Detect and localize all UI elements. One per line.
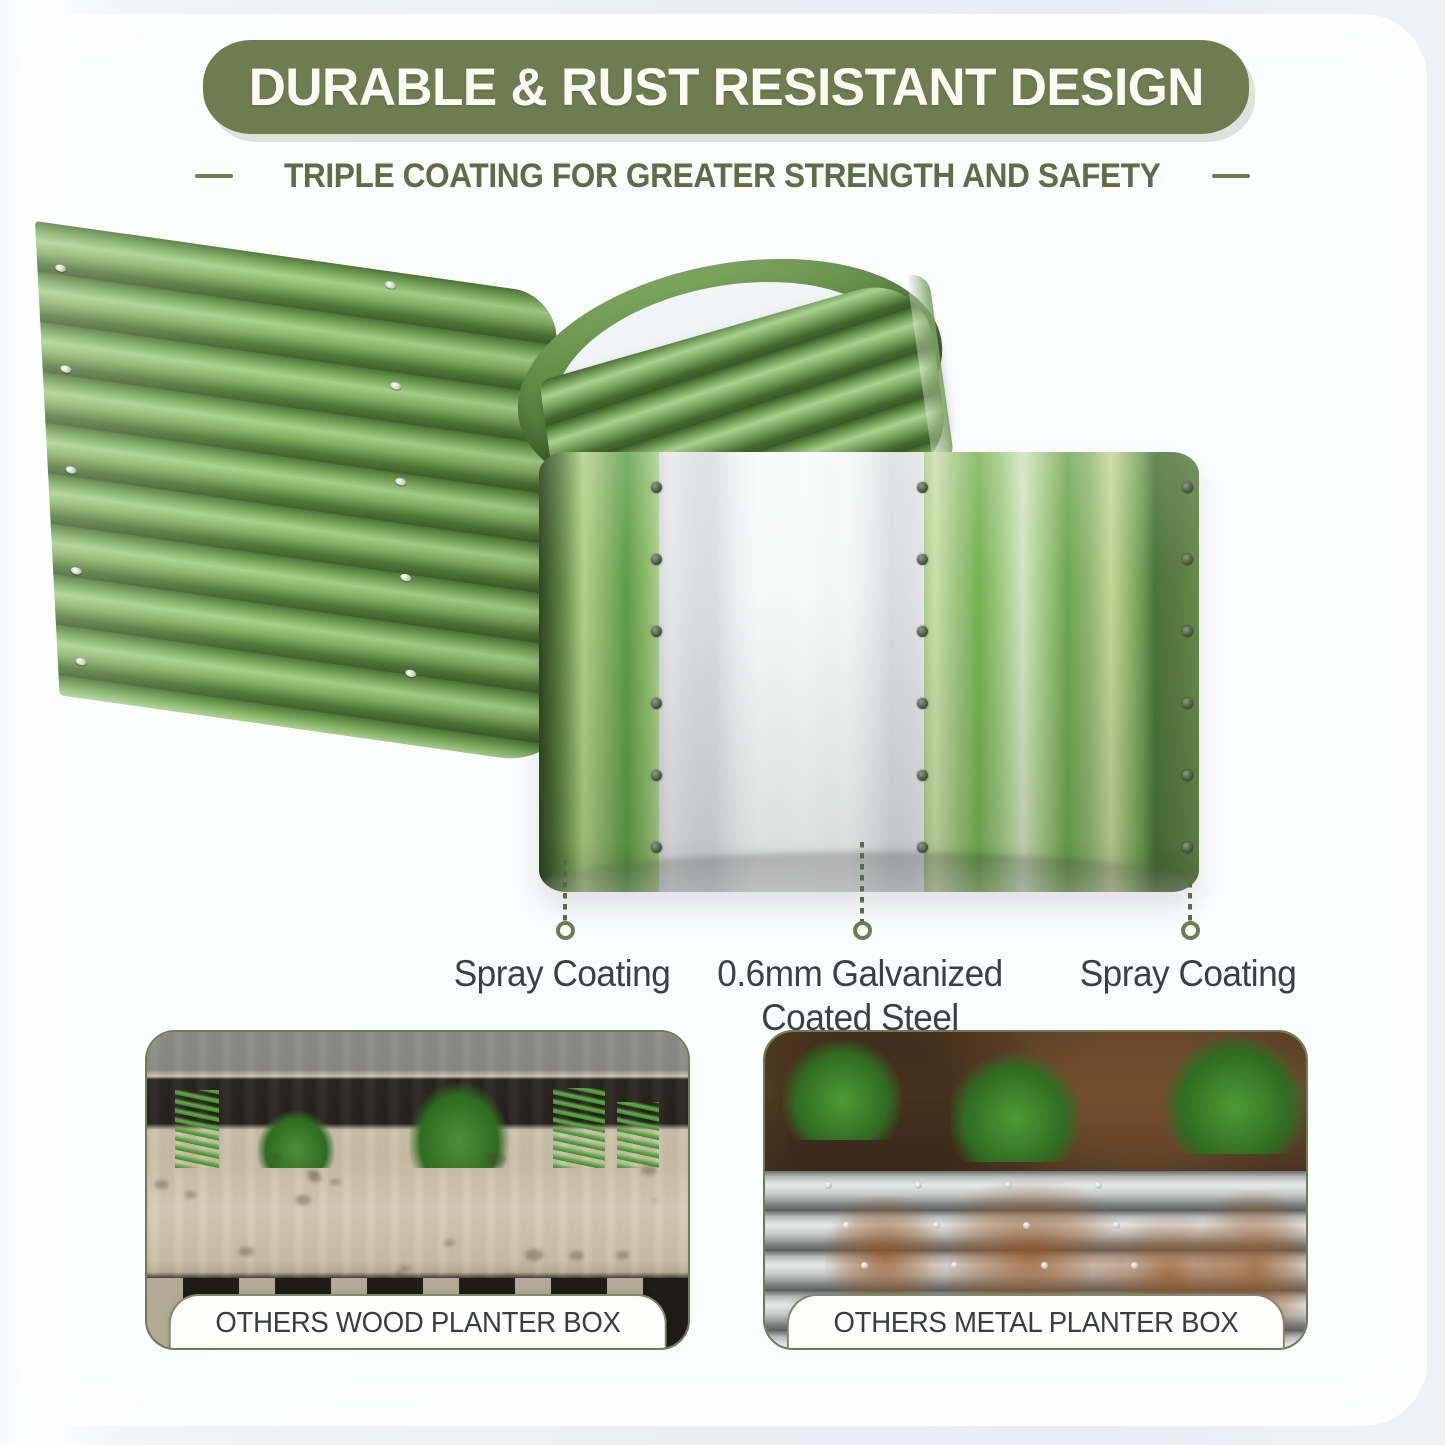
header-banner: DURABLE & RUST RESISTANT DESIGN bbox=[203, 40, 1249, 134]
callout-group: Spray Coating 0.6mm Galvanized Coated St… bbox=[0, 860, 1445, 1020]
page-title: DURABLE & RUST RESISTANT DESIGN bbox=[248, 57, 1203, 118]
leader-ring-icon bbox=[853, 921, 872, 940]
card-label-pill-metal: OTHERS METAL PLANTER BOX bbox=[786, 1294, 1284, 1350]
callout-label-spray-coating-left: Spray Coating bbox=[424, 952, 700, 996]
leader-ring-icon bbox=[556, 921, 575, 940]
wall-green-right-section bbox=[924, 452, 1199, 892]
wall-galvanized-section bbox=[659, 452, 924, 892]
leader-dots bbox=[563, 860, 567, 922]
callout-leader-3 bbox=[1188, 860, 1192, 922]
dash-left-icon bbox=[195, 174, 233, 178]
leader-ring-icon bbox=[1181, 921, 1200, 940]
flap-edge bbox=[907, 270, 955, 466]
comparison-card-metal[interactable]: OTHERS METAL PLANTER BOX bbox=[763, 1030, 1308, 1350]
card-label-pill-wood: OTHERS WOOD PLANTER BOX bbox=[168, 1294, 667, 1350]
corrugated-side-panel bbox=[35, 221, 579, 769]
hero-product-image bbox=[0, 186, 1445, 916]
infographic-root: DURABLE & RUST RESISTANT DESIGN TRIPLE C… bbox=[0, 0, 1445, 1445]
raised-bed-body bbox=[505, 304, 1205, 894]
callout-leader-1 bbox=[563, 860, 567, 922]
leader-dots bbox=[860, 842, 864, 922]
panel-gloss bbox=[35, 221, 579, 769]
wall-green-left-section bbox=[539, 452, 659, 892]
callout-label-spray-coating-right: Spray Coating bbox=[1050, 952, 1326, 996]
callout-leader-2 bbox=[860, 842, 864, 922]
panel-rivets bbox=[35, 221, 579, 769]
dash-right-icon bbox=[1212, 174, 1250, 178]
card-label-text: OTHERS METAL PLANTER BOX bbox=[833, 1307, 1238, 1340]
leader-dots bbox=[1188, 860, 1192, 922]
card-label-text: OTHERS WOOD PLANTER BOX bbox=[215, 1307, 620, 1340]
comparison-card-wood[interactable]: OTHERS WOOD PLANTER BOX bbox=[145, 1030, 690, 1350]
comparison-card-group: OTHERS WOOD PLANTER BOX OTHERS METAL PLA… bbox=[0, 1022, 1445, 1382]
bed-front-wall bbox=[539, 452, 1199, 892]
